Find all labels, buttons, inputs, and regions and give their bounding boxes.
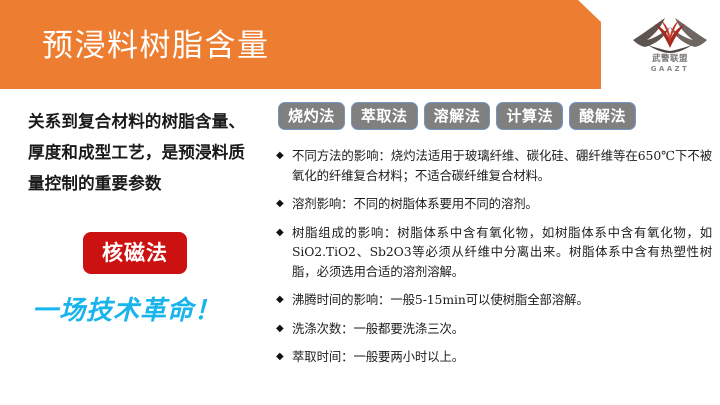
tab-label: 烧灼法 — [288, 107, 335, 125]
eagle-wing-emblem-icon — [631, 14, 709, 54]
list-item: ◆ 洗涤次数：一般都要洗涤三次。 — [276, 319, 712, 339]
nmr-method-badge[interactable]: 核磁法 — [83, 232, 187, 274]
tab-label: 计算法 — [506, 107, 553, 125]
list-item: ◆ 沸腾时间的影响：一般5-15min可以使树脂全部溶解。 — [276, 290, 712, 310]
slogan-text: 一场技术革命！ — [32, 294, 262, 328]
diamond-bullet-icon: ◆ — [276, 290, 284, 310]
tab-acid-digestion-method[interactable]: 酸解法 — [569, 102, 636, 130]
tab-burning-method[interactable]: 烧灼法 — [278, 102, 345, 130]
list-item-text: 溶剂影响：不同的树脂体系要用不同的溶剂。 — [292, 196, 538, 211]
diamond-bullet-icon: ◆ — [276, 194, 284, 214]
diamond-bullet-icon: ◆ — [276, 146, 284, 166]
tab-calculation-method[interactable]: 计算法 — [496, 102, 563, 130]
tab-label: 酸解法 — [579, 107, 626, 125]
page-title: 预浸料树脂含量 — [42, 27, 270, 65]
lead-paragraph: 关系到复合材料的树脂含量、厚度和成型工艺，是预浸料质量控制的重要参数 — [28, 106, 256, 199]
list-item: ◆ 不同方法的影响：烧灼法适用于玻璃纤维、碳化硅、硼纤维等在650℃下不被氧化的… — [276, 146, 712, 185]
method-tab-row: 烧灼法 萃取法 溶解法 计算法 酸解法 — [278, 102, 636, 130]
tab-label: 溶解法 — [434, 107, 481, 125]
right-content-column: 烧灼法 萃取法 溶解法 计算法 酸解法 ◆ 不同方法的影响：烧灼法适用于玻璃纤维… — [262, 89, 720, 405]
list-item-text: 沸腾时间的影响：一般5-15min可以使树脂全部溶解。 — [292, 292, 589, 307]
list-item-text: 树脂组成的影响：树脂体系中含有氧化物，如树脂体系中含有氧化物，如SiO2.TiO… — [292, 225, 712, 279]
brand-logo: 武警联盟 GAAZT — [627, 14, 713, 80]
list-item: ◆ 溶剂影响：不同的树脂体系要用不同的溶剂。 — [276, 194, 712, 214]
logo-chinese-text: 武警联盟 — [627, 54, 713, 64]
list-item-text: 洗涤次数：一般都要洗涤三次。 — [292, 321, 464, 336]
diamond-bullet-icon: ◆ — [276, 223, 284, 243]
list-item-text: 不同方法的影响：烧灼法适用于玻璃纤维、碳化硅、硼纤维等在650℃下不被氧化的纤维… — [292, 148, 712, 183]
tab-dissolution-method[interactable]: 溶解法 — [424, 102, 491, 130]
diamond-bullet-icon: ◆ — [276, 347, 284, 367]
nmr-method-badge-label: 核磁法 — [102, 241, 168, 265]
logo-english-text: GAAZT — [627, 65, 713, 74]
tab-label: 萃取法 — [361, 107, 408, 125]
list-item-text: 萃取时间：一般要两小时以上。 — [292, 349, 464, 364]
left-content-column: 关系到复合材料的树脂含量、厚度和成型工艺，是预浸料质量控制的重要参数 核磁法 一… — [0, 89, 262, 405]
tab-extraction-method[interactable]: 萃取法 — [351, 102, 418, 130]
slide-header: 预浸料树脂含量 武警联盟 GAAZT — [0, 0, 720, 89]
list-item: ◆ 树脂组成的影响：树脂体系中含有氧化物，如树脂体系中含有氧化物，如SiO2.T… — [276, 223, 712, 282]
list-item: ◆ 萃取时间：一般要两小时以上。 — [276, 347, 712, 367]
bullet-list: ◆ 不同方法的影响：烧灼法适用于玻璃纤维、碳化硅、硼纤维等在650℃下不被氧化的… — [276, 146, 712, 367]
diamond-bullet-icon: ◆ — [276, 319, 284, 339]
